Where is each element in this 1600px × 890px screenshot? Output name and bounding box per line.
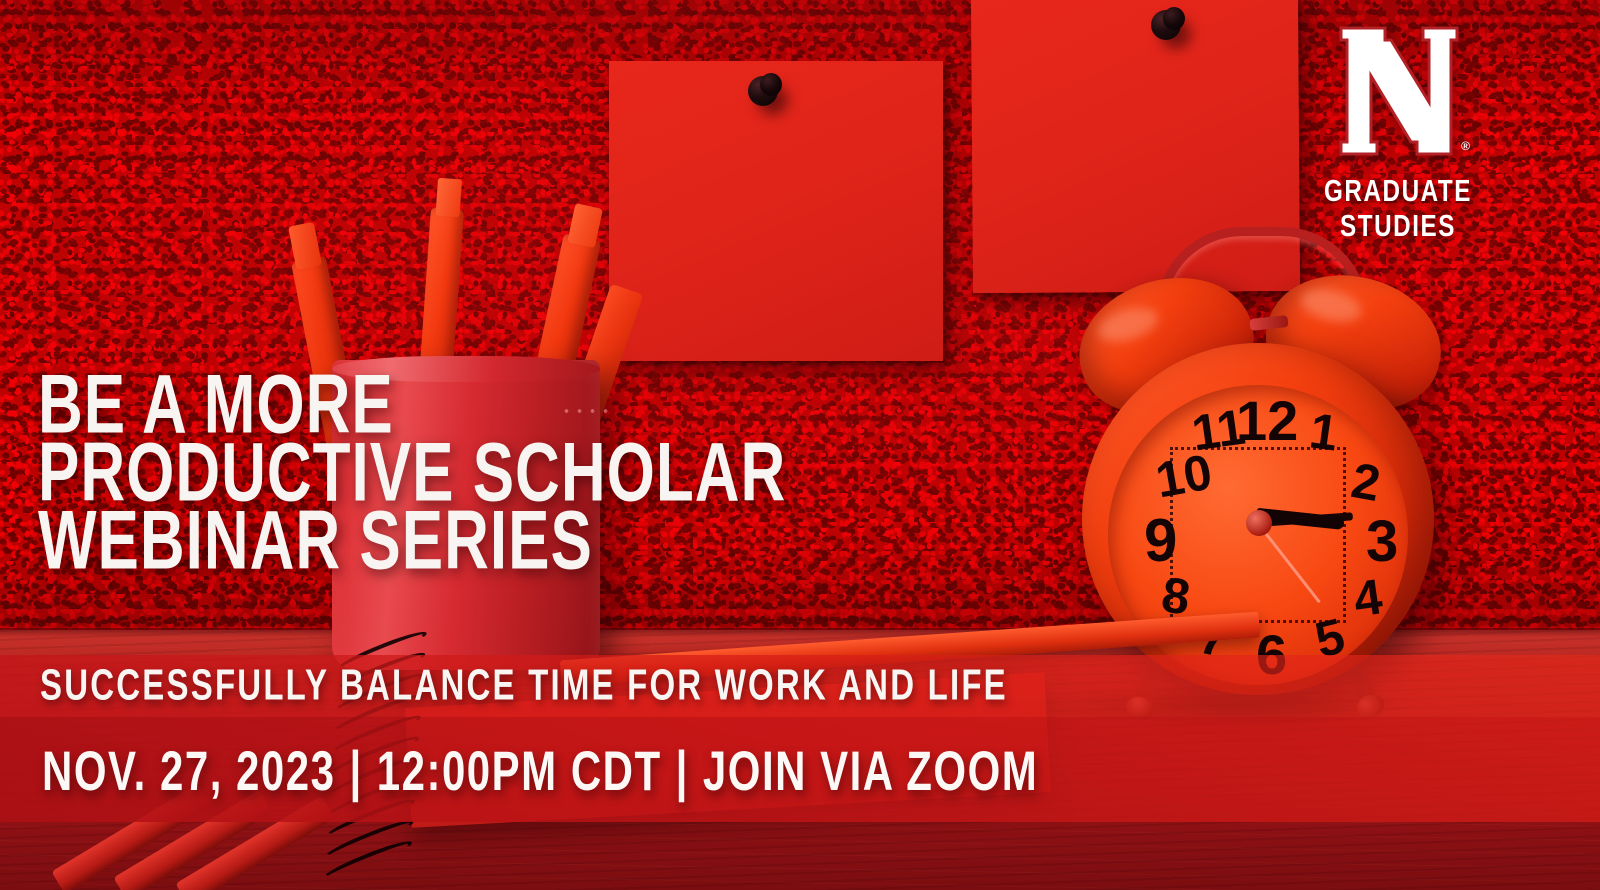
bell-highlight (1094, 302, 1162, 348)
clock-numeral-9: 9 (1144, 511, 1177, 571)
clock-numeral-11: 11 (1189, 402, 1248, 459)
nebraska-n-icon: ® (1333, 22, 1463, 160)
registered-trademark-icon: ® (1461, 139, 1470, 153)
logo-unit-label: GRADUATE STUDIES (1276, 174, 1520, 245)
clock-numeral-3: 3 (1366, 513, 1398, 571)
webinar-promo-poster: 12 1 2 3 4 5 6 7 8 9 10 11 BE A (0, 0, 1600, 890)
details-separator: | (662, 740, 703, 802)
bell-highlight (1297, 283, 1364, 327)
nebraska-graduate-studies-logo: ® GRADUATE STUDIES (1272, 22, 1524, 232)
subtitle-text: SUCCESSFULLY BALANCE TIME FOR WORK AND L… (40, 660, 1008, 710)
clock-center-cap (1246, 510, 1272, 536)
sticky-note (609, 61, 943, 361)
event-platform: JOIN VIA ZOOM (703, 740, 1038, 802)
event-time: 12:00PM CDT (377, 740, 662, 802)
event-details: NOV. 27, 2023|12:00PM CDT|JOIN VIA ZOOM (42, 740, 1038, 803)
headline-line-3: WEBINAR SERIES (38, 508, 1138, 575)
pushpin-icon (1151, 10, 1181, 40)
pushpin-icon (748, 76, 778, 106)
details-separator: | (335, 740, 376, 802)
page-title: BE A MORE PRODUCTIVE SCHOLAR WEBINAR SER… (38, 372, 1138, 558)
event-date: NOV. 27, 2023 (42, 740, 335, 802)
